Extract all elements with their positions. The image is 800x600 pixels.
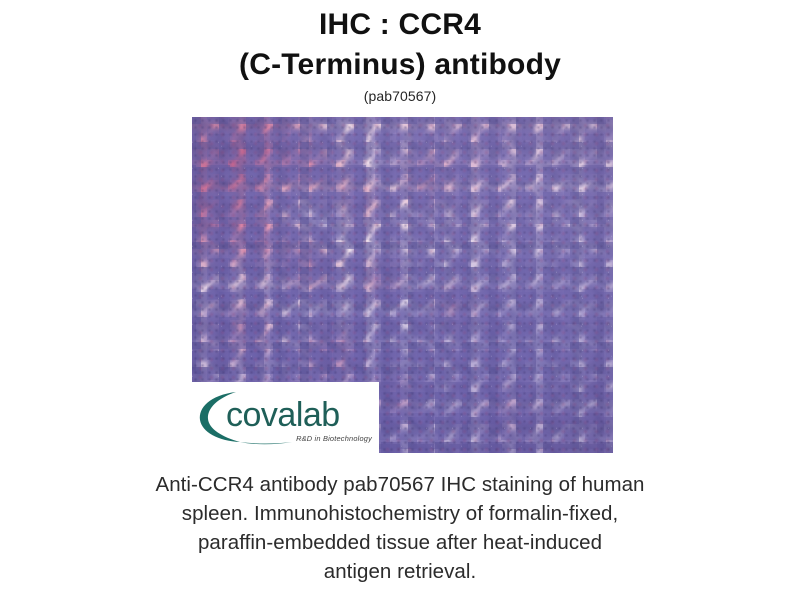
title-line-secondary: (C-Terminus) antibody — [0, 46, 800, 84]
caption-line: paraffin-embedded tissue after heat-indu… — [60, 528, 740, 557]
covalab-logo: covalab R&D in Biotechnology — [196, 386, 376, 450]
catalog-number: (pab70567) — [0, 88, 800, 104]
title-line-primary: IHC : CCR4 — [0, 6, 800, 44]
ihc-micrograph: covalab R&D in Biotechnology — [192, 117, 613, 453]
covalab-tagline: R&D in Biotechnology — [296, 434, 373, 443]
page-title: IHC : CCR4 (C-Terminus) antibody (pab705… — [0, 0, 800, 104]
covalab-logo-plate: covalab R&D in Biotechnology — [192, 382, 379, 453]
caption-line: spleen. Immunohistochemistry of formalin… — [60, 499, 740, 528]
swoosh-tail-icon — [240, 442, 292, 444]
covalab-wordmark: covalab — [226, 396, 340, 434]
figure-caption: Anti-CCR4 antibody pab70567 IHC staining… — [60, 470, 740, 586]
caption-line: Anti-CCR4 antibody pab70567 IHC staining… — [60, 470, 740, 499]
caption-line: antigen retrieval. — [60, 557, 740, 586]
